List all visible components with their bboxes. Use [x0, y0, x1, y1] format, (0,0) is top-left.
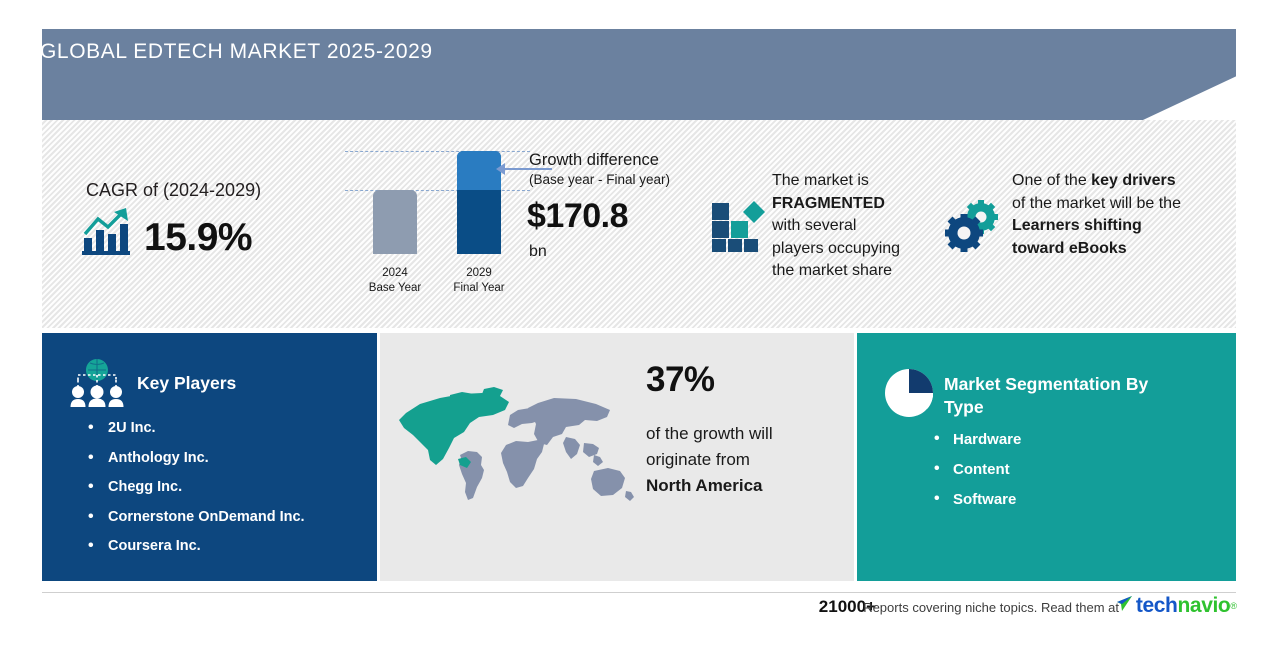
list-item: Software [932, 491, 1021, 508]
gears-icon [944, 200, 1002, 257]
key-players-list: 2U Inc. Anthology Inc. Chegg Inc. Corner… [86, 420, 305, 568]
bar-chart-growth-icon [80, 206, 134, 261]
guide-line-mid [345, 190, 530, 191]
footer-tagline: Reports covering niche topics. Read them… [863, 600, 1119, 615]
list-item: Cornerstone OnDemand Inc. [86, 509, 305, 525]
list-item: Coursera Inc. [86, 538, 305, 554]
growth-difference-value: $170.8 [527, 197, 628, 236]
region-name: North America [646, 476, 763, 495]
pie-chart-icon [884, 368, 934, 423]
cagr-value: 15.9% [144, 216, 252, 260]
bar-label-base-year: 2024 Base Year [360, 266, 430, 296]
driver-bold3: toward eBooks [1012, 240, 1127, 257]
driver-bold2: Learners shifting [1012, 217, 1142, 234]
key-driver-text: One of the key drivers of the market wil… [1012, 170, 1227, 260]
list-item: Content [932, 461, 1021, 478]
fragmented-line3: players occupying [772, 240, 900, 257]
cagr-label: CAGR of (2024-2029) [86, 180, 261, 201]
growth-bar-chart: 2024 Base Year 2029 Final Year [345, 148, 535, 298]
segmentation-list: Hardware Content Software [932, 431, 1021, 521]
base-year-number: 2024 [360, 266, 430, 281]
growth-difference-title: Growth difference [529, 151, 659, 170]
region-description: of the growth will originate from North … [646, 421, 836, 499]
fragmented-line2: with several [772, 217, 856, 234]
footer-divider [42, 592, 1236, 593]
fragmented-emphasis: FRAGMENTED [772, 195, 885, 212]
region-percent: 37% [646, 360, 715, 400]
growth-difference-unit: bn [529, 243, 547, 261]
list-item: Chegg Inc. [86, 479, 305, 495]
growth-arrow-head-icon [496, 163, 505, 175]
bar-label-final-year: 2029 Final Year [444, 266, 514, 296]
logo-text-tech: tech [1136, 594, 1178, 618]
final-year-number: 2029 [444, 266, 514, 281]
region-line2: originate from [646, 450, 750, 469]
key-players-title: Key Players [137, 373, 236, 394]
region-line1: of the growth will [646, 424, 773, 443]
infographic-canvas: GLOBAL EDTECH MARKET 2025-2029 CAGR of (… [0, 0, 1279, 670]
fragmented-line4: the market share [772, 262, 892, 279]
driver-line1-pre: One of the [1012, 172, 1091, 189]
bar-growth-segment [457, 151, 501, 190]
fragmented-squares-icon [711, 199, 767, 258]
page-title: GLOBAL EDTECH MARKET 2025-2029 [40, 40, 433, 64]
logo-trademark: ® [1230, 601, 1237, 611]
logo-text-navio: navio [1178, 594, 1231, 618]
world-map [398, 383, 643, 523]
list-item: Hardware [932, 431, 1021, 448]
technavio-logo[interactable]: technavio® [1116, 594, 1237, 618]
guide-line-top [345, 151, 530, 152]
bar-base-year [373, 190, 417, 254]
list-item: Anthology Inc. [86, 450, 305, 466]
segmentation-title: Market Segmentation By Type [944, 373, 1174, 419]
technavio-arrow-icon [1116, 595, 1133, 617]
growth-difference-subtitle: (Base year - Final year) [529, 172, 670, 187]
list-item: 2U Inc. [86, 420, 305, 436]
final-year-text: Final Year [444, 281, 514, 296]
base-year-text: Base Year [360, 281, 430, 296]
org-globe-icon [68, 357, 126, 414]
driver-line2: of the market will be the [1012, 195, 1181, 212]
fragmented-line1: The market is [772, 172, 869, 189]
bar-final-year [457, 151, 501, 254]
driver-line1-bold: key drivers [1091, 172, 1176, 189]
